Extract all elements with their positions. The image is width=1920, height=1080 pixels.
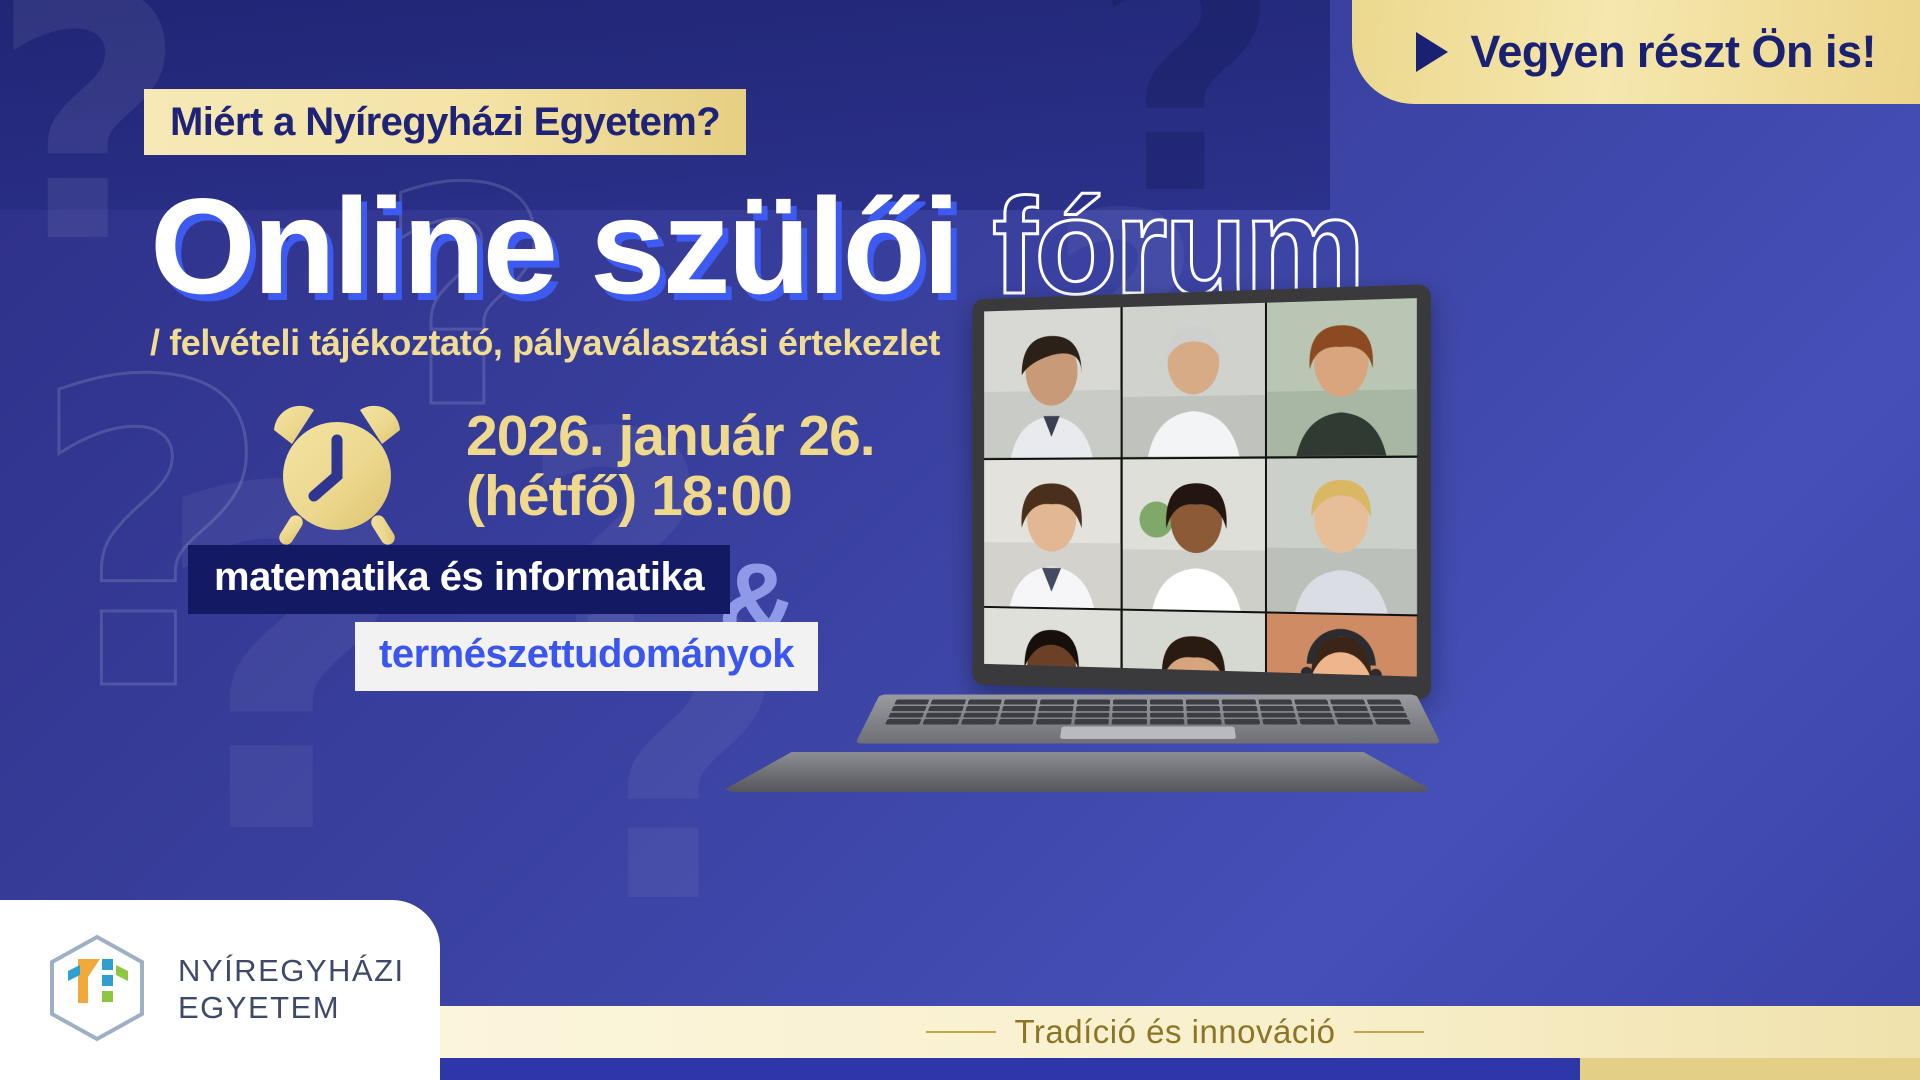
laptop-trackpad xyxy=(1060,727,1236,739)
laptop-deck xyxy=(720,752,1435,792)
tagline-rule-left xyxy=(926,1031,996,1033)
laptop-screen xyxy=(972,284,1431,700)
university-logo-text: NYÍREGYHÁZI EGYETEM xyxy=(178,953,405,1026)
video-call-window xyxy=(984,298,1417,677)
subject-tag-math-it-label: matematika és informatika xyxy=(214,555,704,599)
participant-tile xyxy=(1267,457,1417,614)
participant-tile xyxy=(1267,614,1417,677)
subject-tag-sciences-label: természettudományok xyxy=(379,632,794,676)
participant-tile xyxy=(1267,298,1417,456)
laptop-icon xyxy=(700,292,1440,812)
participate-badge[interactable]: Vegyen részt Ön is! xyxy=(1352,0,1920,104)
participant-tile xyxy=(1122,303,1265,457)
participant-tile xyxy=(984,307,1120,458)
alarm-clock-icon xyxy=(262,396,412,546)
participate-badge-label: Vegyen részt Ön is! xyxy=(1470,26,1876,78)
laptop-base xyxy=(700,692,1440,812)
play-triangle-icon xyxy=(1416,32,1448,72)
question-mark-decor: ? xyxy=(30,330,274,750)
tagline-label: Tradíció és innováció xyxy=(1014,1013,1335,1051)
poster-canvas: ? ? ? ? ? ? ? ? Vegyen részt Ön is! Miér… xyxy=(0,0,1920,1080)
participant-tile xyxy=(984,459,1120,609)
participant-grid xyxy=(984,298,1417,677)
university-name-line2: EGYETEM xyxy=(178,990,405,1027)
subject-tag-math-it: matematika és informatika xyxy=(188,545,730,614)
laptop-keyboard xyxy=(855,695,1440,744)
why-university-label: Miért a Nyíregyházi Egyetem? xyxy=(170,100,720,145)
bottom-strip-gold xyxy=(1580,1058,1920,1080)
participant-tile xyxy=(984,608,1120,676)
university-logo-panel: NYÍREGYHÁZI EGYETEM xyxy=(0,900,440,1080)
why-university-banner: Miért a Nyíregyházi Egyetem? xyxy=(144,89,746,155)
tagline-rule-right xyxy=(1354,1031,1424,1033)
subject-tag-sciences: természettudományok xyxy=(355,622,818,691)
university-logo-icon xyxy=(38,929,156,1052)
participant-tile xyxy=(1122,611,1265,677)
tagline-band: Tradíció és innováció xyxy=(430,1006,1920,1058)
participant-tile xyxy=(1122,458,1265,611)
university-name-line1: NYÍREGYHÁZI xyxy=(178,953,405,990)
